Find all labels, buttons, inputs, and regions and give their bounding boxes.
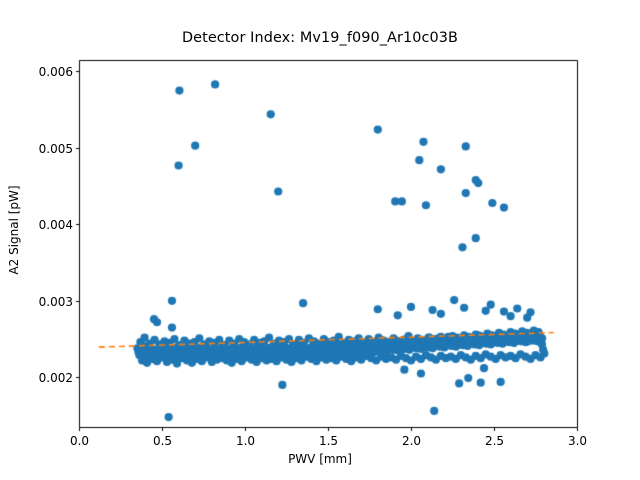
x-tick-label: 3.0 bbox=[568, 434, 587, 448]
x-tick-label: 2.0 bbox=[402, 434, 421, 448]
y-tick-label: 0.004 bbox=[33, 218, 73, 232]
x-axis-label: PWV [mm] bbox=[0, 452, 640, 466]
y-tick-label: 0.006 bbox=[33, 65, 73, 79]
y-tick-label: 0.005 bbox=[33, 142, 73, 156]
figure-container: Detector Index: Mv19_f090_Ar10c03B A2 Si… bbox=[0, 0, 640, 480]
scatter-plot-canvas bbox=[0, 0, 640, 480]
x-tick-label: 1.5 bbox=[319, 434, 338, 448]
y-tick-label: 0.003 bbox=[33, 295, 73, 309]
x-tick-label: 0.0 bbox=[70, 434, 89, 448]
x-tick-label: 0.5 bbox=[153, 434, 172, 448]
page-title: Detector Index: Mv19_f090_Ar10c03B bbox=[0, 30, 640, 46]
y-tick-label: 0.002 bbox=[33, 371, 73, 385]
y-axis-label: A2 Signal [pW] bbox=[7, 130, 21, 330]
x-tick-label: 2.5 bbox=[485, 434, 504, 448]
x-tick-label: 1.0 bbox=[236, 434, 255, 448]
